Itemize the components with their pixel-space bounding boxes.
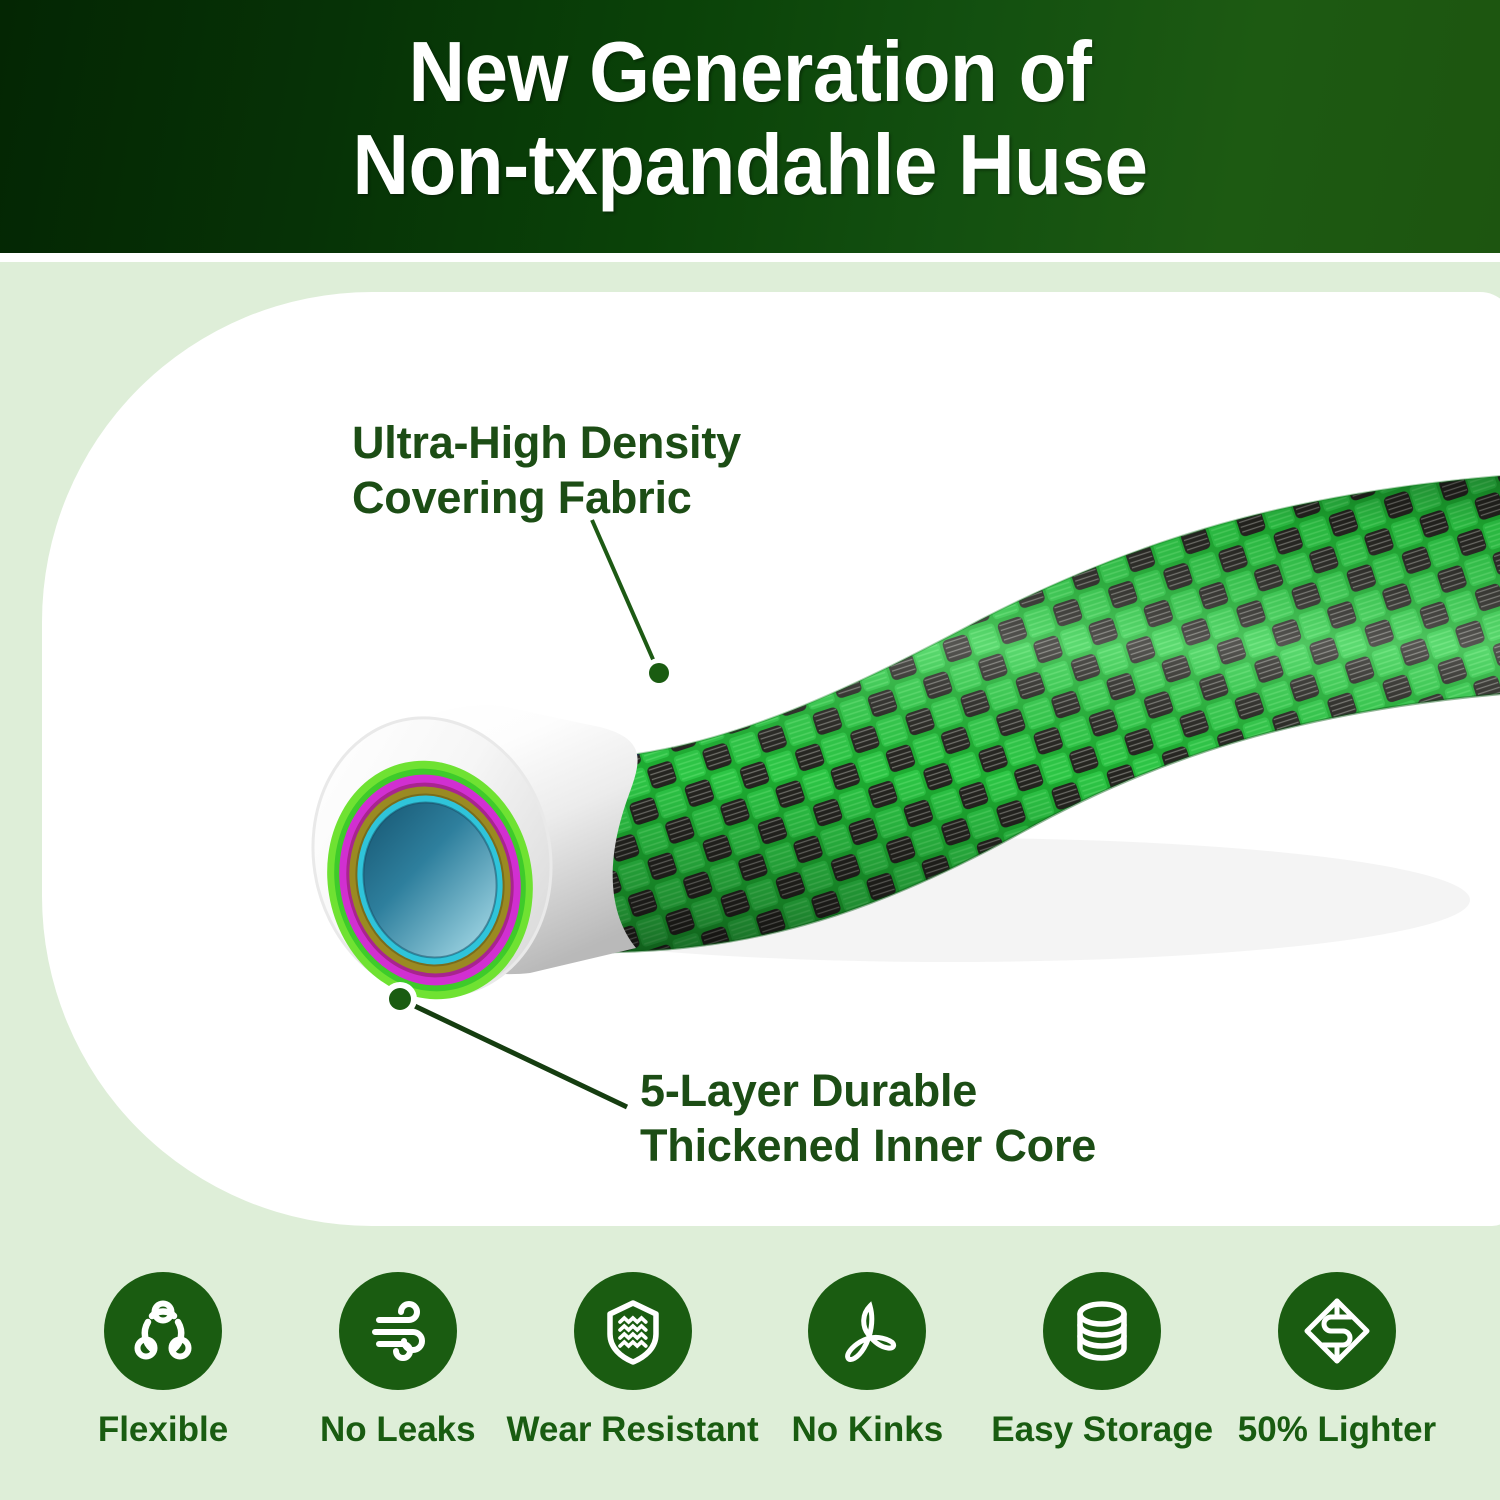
feature-item-no-kinks[interactable]: No Kinks xyxy=(756,1272,978,1450)
feature-item-wear-resistant[interactable]: Wear Resistant xyxy=(522,1272,744,1450)
page-title: New Generation of Non-txpandahle Huse xyxy=(60,26,1440,212)
feature-badge-wear-resistant xyxy=(574,1272,692,1390)
feature-label-no-leaks: No Leaks xyxy=(320,1410,476,1450)
feature-label-easy-storage: Easy Storage xyxy=(991,1410,1213,1450)
product-infographic: New Generation of Non-txpandahle Huse xyxy=(0,0,1500,1500)
feature-item-50-lighter[interactable]: 50% Lighter xyxy=(1226,1272,1448,1450)
header-banner: New Generation of Non-txpandahle Huse xyxy=(0,0,1500,253)
coiled-stack-icon xyxy=(1063,1292,1141,1370)
feature-item-flexible[interactable]: Flexible xyxy=(52,1272,274,1450)
shield-waves-icon xyxy=(594,1292,672,1370)
feature-item-no-leaks[interactable]: No Leaks xyxy=(287,1272,509,1450)
feature-badge-50-lighter xyxy=(1278,1272,1396,1390)
feature-label-flexible: Flexible xyxy=(98,1410,228,1450)
feature-label-no-kinks: No Kinks xyxy=(792,1410,944,1450)
flexible-triangle-nodes-icon xyxy=(124,1292,202,1370)
feature-list: Flexible No Leaks xyxy=(0,1272,1500,1450)
feature-badge-easy-storage xyxy=(1043,1272,1161,1390)
callout-label-inner-core: 5-Layer Durable Thickened Inner Core xyxy=(640,1063,1096,1173)
feature-badge-flexible xyxy=(104,1272,222,1390)
callout-label-covering-fabric: Ultra-High Density Covering Fabric xyxy=(352,415,741,525)
header-divider xyxy=(0,253,1500,262)
feature-label-50-lighter: 50% Lighter xyxy=(1238,1410,1436,1450)
feature-badge-no-leaks xyxy=(339,1272,457,1390)
trefoil-loop-icon xyxy=(828,1292,906,1370)
feature-item-easy-storage[interactable]: Easy Storage xyxy=(991,1272,1213,1450)
feature-label-wear-resistant: Wear Resistant xyxy=(506,1410,758,1450)
wind-airflow-icon xyxy=(359,1292,437,1370)
diamond-s-icon xyxy=(1298,1292,1376,1370)
feature-badge-no-kinks xyxy=(808,1272,926,1390)
